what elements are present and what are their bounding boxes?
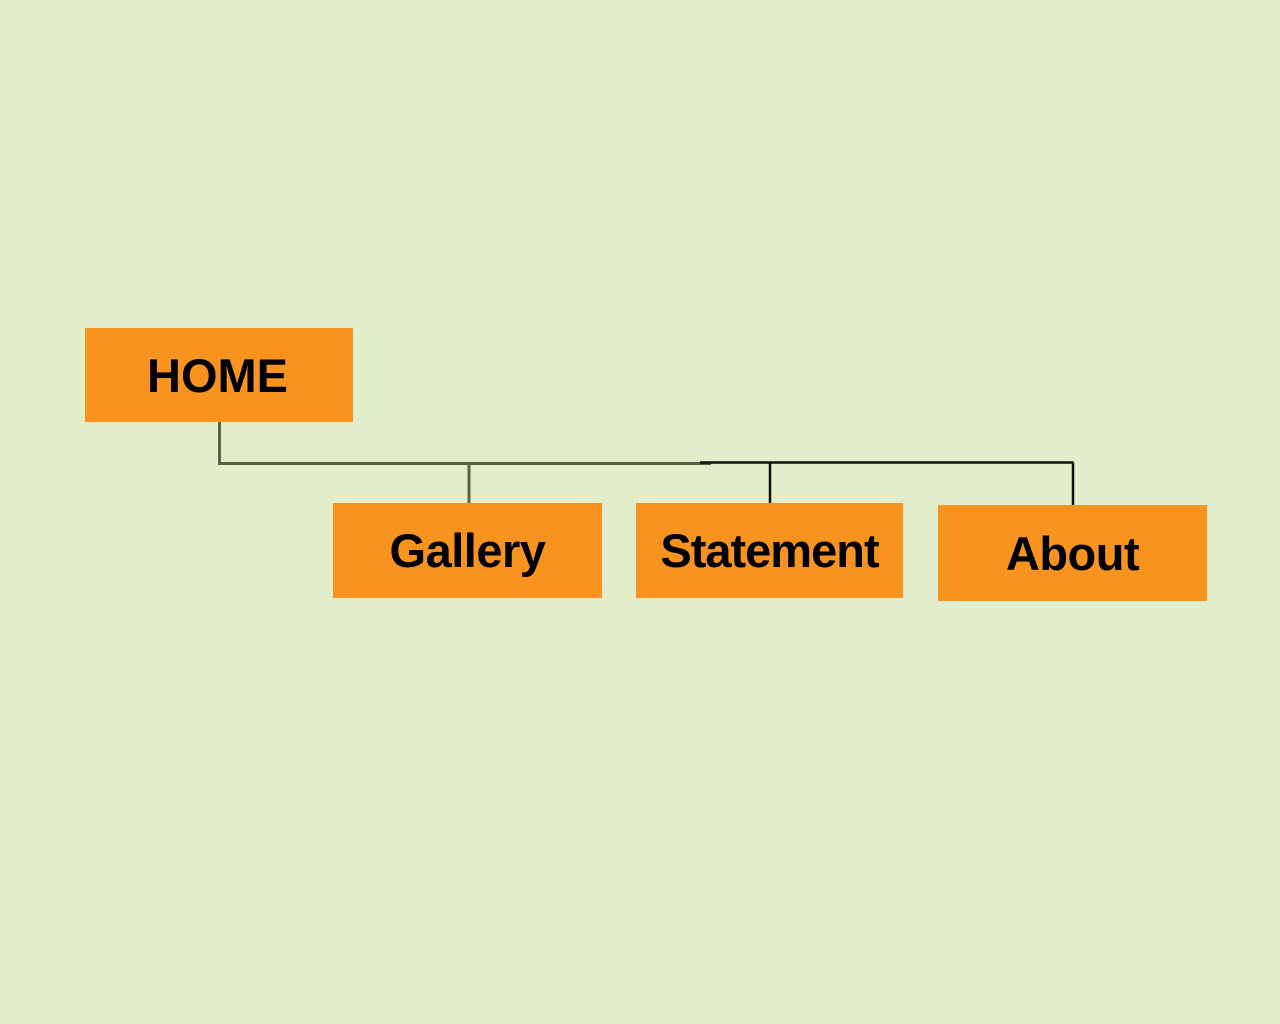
sitemap-node-about-label: About (1006, 530, 1139, 577)
sitemap-node-statement[interactable]: Statement (636, 503, 903, 598)
sitemap-node-statement-label: Statement (660, 527, 878, 574)
sitemap-node-gallery[interactable]: Gallery (333, 503, 602, 598)
sitemap-node-about[interactable]: About (938, 505, 1207, 601)
sitemap-canvas: HOME Gallery Statement About (0, 0, 1280, 1024)
sitemap-node-home-label: HOME (147, 352, 288, 399)
sitemap-node-gallery-label: Gallery (390, 527, 546, 574)
sitemap-node-home[interactable]: HOME (85, 328, 353, 422)
